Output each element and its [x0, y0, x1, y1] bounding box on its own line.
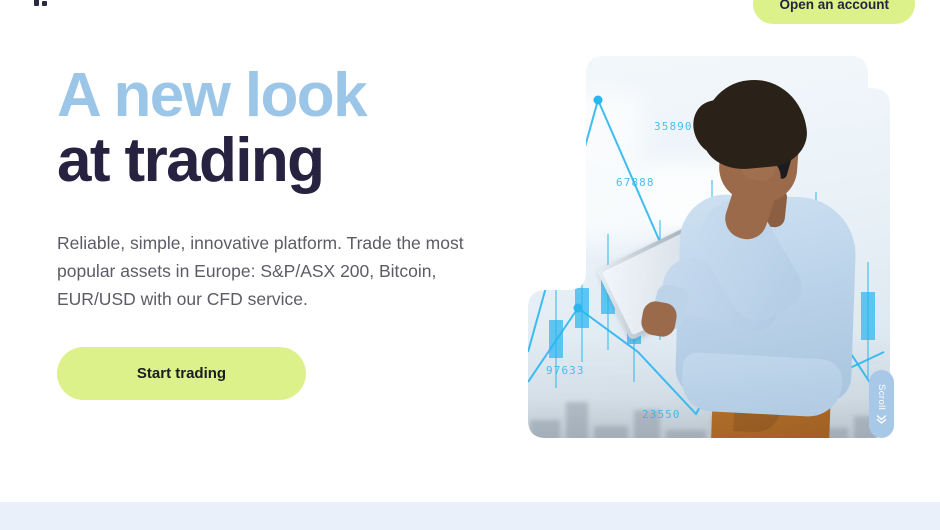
open-account-button[interactable]: Open an account	[753, 0, 915, 24]
landing-page: Open an account A new look at trading Re…	[0, 0, 940, 530]
logo-bar-tall	[34, 0, 39, 6]
hero-copy: A new look at trading Reliable, simple, …	[57, 66, 497, 400]
hero-image-card: 3589067888976332670023550	[520, 52, 890, 454]
scroll-indicator[interactable]: Scroll	[869, 370, 894, 438]
headline-line-1: A new look	[57, 66, 497, 127]
person-shirt-hem	[681, 352, 844, 418]
site-header: Open an account	[0, 0, 940, 12]
headline-line-2: at trading	[57, 131, 497, 192]
chevron-double-down-icon	[876, 415, 887, 424]
hero-visual: 3589067888976332670023550	[520, 52, 890, 454]
logo-bar-short	[42, 1, 47, 6]
scroll-label: Scroll	[876, 384, 887, 410]
page-title: A new look at trading	[57, 66, 497, 192]
person-hair	[698, 76, 809, 173]
svg-text:97633: 97633	[546, 364, 585, 377]
hero-subtext: Reliable, simple, innovative platform. T…	[57, 229, 477, 314]
next-section-band	[0, 502, 940, 530]
start-trading-button[interactable]: Start trading	[57, 347, 306, 400]
trader-photo	[616, 70, 884, 440]
brand-logo[interactable]	[34, 0, 47, 6]
